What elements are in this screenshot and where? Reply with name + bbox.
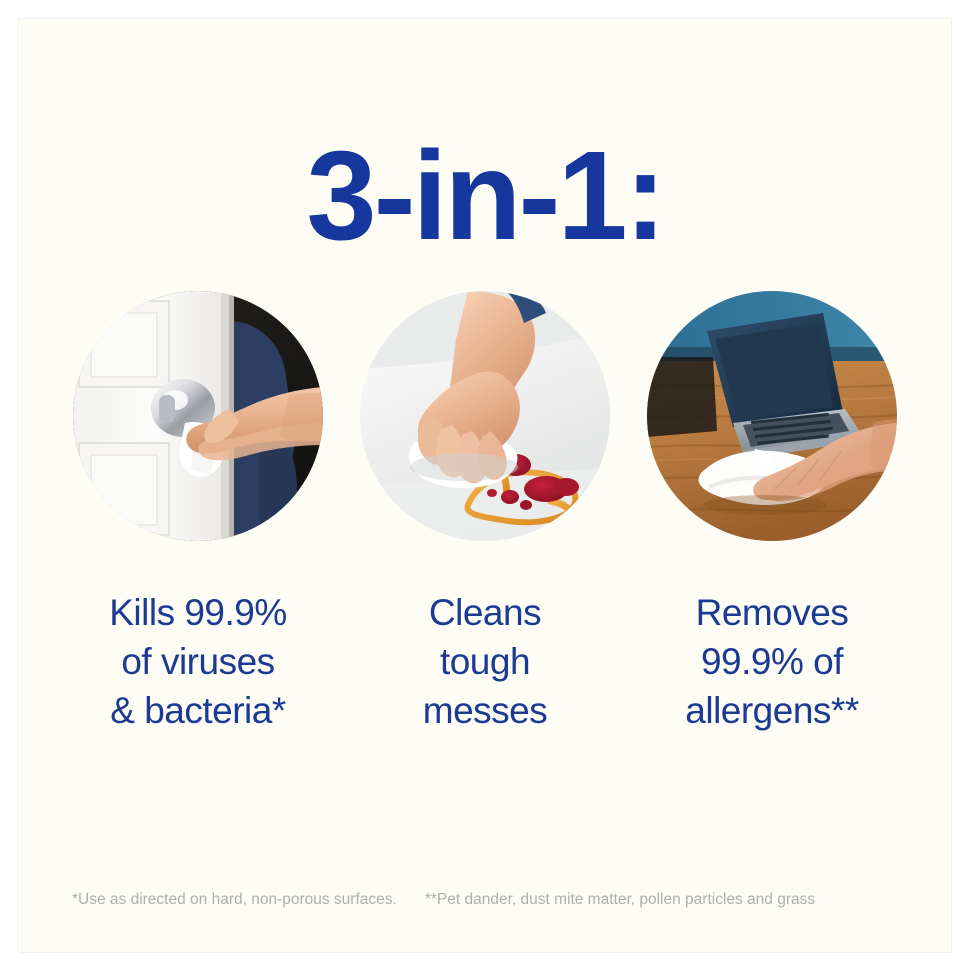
hand-wiping-countertop-spill-photo	[360, 291, 610, 541]
caption-line: & bacteria*	[109, 687, 287, 736]
benefit-caption: Kills 99.9% of viruses & bacteria*	[109, 589, 287, 735]
footnote-primary: *Use as directed on hard, non-porous sur…	[72, 891, 397, 910]
benefit-item-kills-viruses-bacteria: Kills 99.9% of viruses & bacteria*	[58, 291, 338, 735]
benefit-caption: Cleans tough messes	[423, 589, 547, 735]
footnote-secondary: **Pet dander, dust mite matter, pollen p…	[425, 891, 815, 910]
caption-line: Kills 99.9%	[109, 589, 287, 638]
benefit-item-cleans-tough-messes: Cleans tough messes	[345, 291, 625, 735]
hand-wiping-desk-near-laptop-photo	[647, 291, 897, 541]
caption-line: tough	[423, 638, 547, 687]
caption-line: messes	[423, 687, 547, 736]
caption-line: Cleans	[423, 589, 547, 638]
benefit-item-removes-allergens: Removes 99.9% of allergens**	[632, 291, 912, 735]
poster-canvas: 3-in-1:	[18, 18, 952, 953]
caption-line: allergens**	[685, 687, 858, 736]
page-title: 3-in-1:	[18, 133, 952, 259]
hand-wiping-doorknob-photo	[73, 291, 323, 541]
product-benefits-poster: 3-in-1:	[0, 0, 970, 971]
caption-line: of viruses	[109, 638, 287, 687]
caption-line: 99.9% of	[685, 638, 858, 687]
caption-line: Removes	[685, 589, 858, 638]
benefits-row: Kills 99.9% of viruses & bacteria*	[58, 291, 912, 735]
footnotes: *Use as directed on hard, non-porous sur…	[72, 891, 922, 910]
benefit-caption: Removes 99.9% of allergens**	[685, 589, 858, 735]
